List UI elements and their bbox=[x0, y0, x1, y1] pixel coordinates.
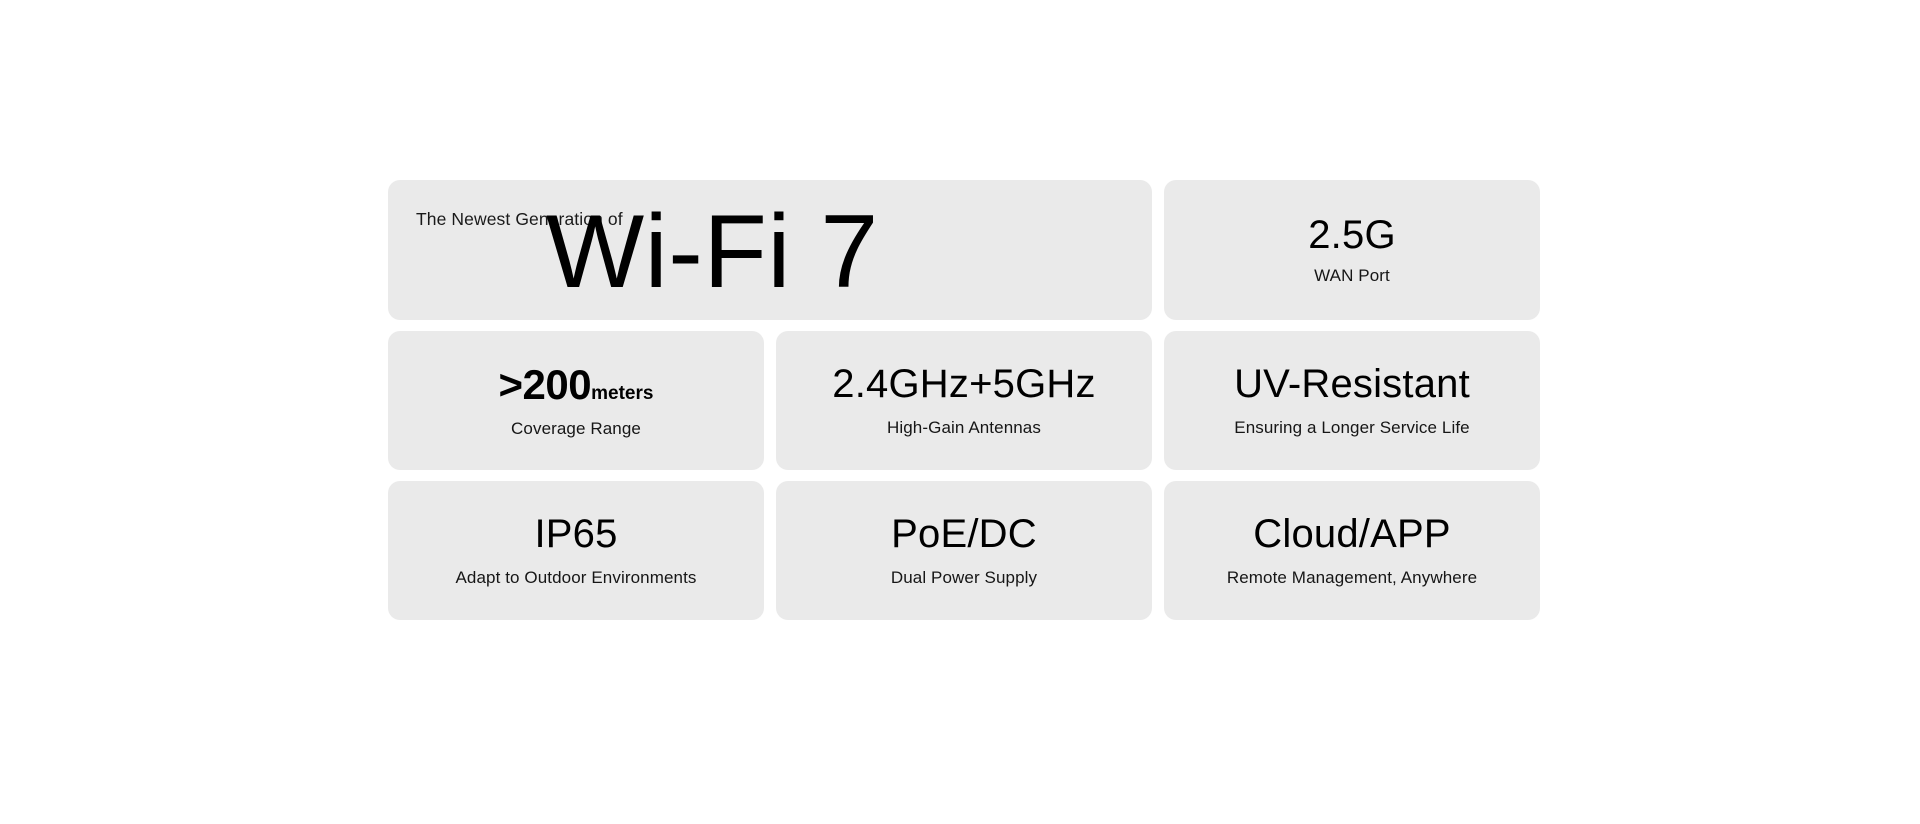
feature-card-coverage-range: >200meters Coverage Range bbox=[388, 331, 764, 470]
feature-card-high-gain-antennas: 2.4GHz+5GHz High-Gain Antennas bbox=[776, 331, 1152, 470]
wan-port-stack: 2.5G WAN Port bbox=[1308, 214, 1396, 286]
cloud-app-caption: Remote Management, Anywhere bbox=[1227, 568, 1477, 588]
feature-card-cloud-app: Cloud/APP Remote Management, Anywhere bbox=[1164, 481, 1540, 620]
coverage-range-stack: >200meters Coverage Range bbox=[499, 362, 654, 438]
feature-card-wifi7: The Newest Generation of Wi-Fi 7 bbox=[388, 180, 1152, 320]
cloud-app-value: Cloud/APP bbox=[1253, 513, 1450, 556]
high-gain-antennas-caption: High-Gain Antennas bbox=[887, 418, 1041, 438]
ip65-value: IP65 bbox=[534, 513, 617, 556]
ip65-caption: Adapt to Outdoor Environments bbox=[455, 568, 696, 588]
coverage-range-value-group: >200meters bbox=[499, 362, 654, 407]
coverage-range-value: >200 bbox=[499, 361, 592, 408]
feature-card-wan-port: 2.5G WAN Port bbox=[1164, 180, 1540, 320]
ip65-stack: IP65 Adapt to Outdoor Environments bbox=[455, 513, 696, 587]
poe-dc-stack: PoE/DC Dual Power Supply bbox=[891, 513, 1037, 587]
wan-port-caption: WAN Port bbox=[1314, 266, 1390, 286]
uv-resistant-value: UV-Resistant bbox=[1234, 363, 1470, 406]
feature-card-uv-resistant: UV-Resistant Ensuring a Longer Service L… bbox=[1164, 331, 1540, 470]
uv-resistant-stack: UV-Resistant Ensuring a Longer Service L… bbox=[1234, 363, 1470, 437]
wan-port-value: 2.5G bbox=[1308, 214, 1396, 257]
coverage-range-caption: Coverage Range bbox=[511, 419, 641, 439]
uv-resistant-caption: Ensuring a Longer Service Life bbox=[1234, 418, 1469, 438]
hero-title-wifi7: Wi-Fi 7 bbox=[546, 186, 879, 319]
feature-card-grid: The Newest Generation of Wi-Fi 7 2.5G WA… bbox=[388, 180, 1540, 620]
poe-dc-caption: Dual Power Supply bbox=[891, 568, 1037, 588]
coverage-range-unit: meters bbox=[591, 383, 653, 404]
cloud-app-stack: Cloud/APP Remote Management, Anywhere bbox=[1227, 513, 1477, 587]
feature-card-poe-dc: PoE/DC Dual Power Supply bbox=[776, 481, 1152, 620]
spec-highlight-board: The Newest Generation of Wi-Fi 7 2.5G WA… bbox=[0, 0, 1920, 824]
feature-card-ip65: IP65 Adapt to Outdoor Environments bbox=[388, 481, 764, 620]
poe-dc-value: PoE/DC bbox=[891, 513, 1037, 556]
high-gain-antennas-value: 2.4GHz+5GHz bbox=[832, 363, 1095, 406]
high-gain-antennas-stack: 2.4GHz+5GHz High-Gain Antennas bbox=[832, 363, 1095, 437]
